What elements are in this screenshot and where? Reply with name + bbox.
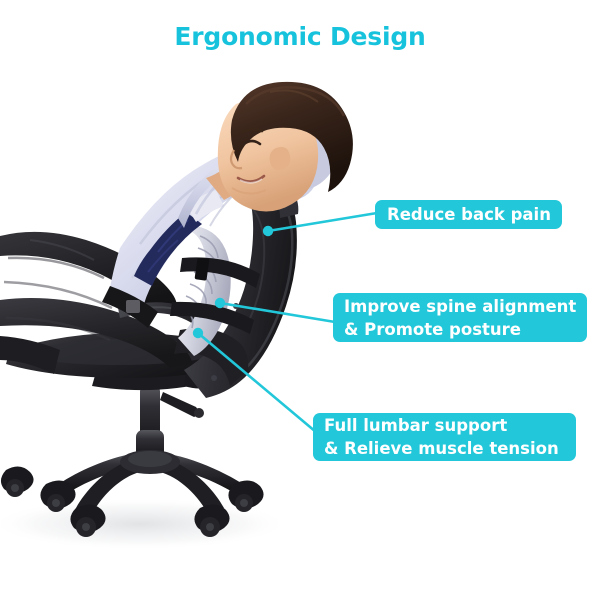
callout-reduce-back-pain[interactable]: Reduce back pain: [375, 200, 562, 229]
callout-full-lumbar-support[interactable]: Full lumbar support & Relieve muscle ten…: [313, 413, 576, 461]
callout-line: & Relieve muscle tension: [324, 437, 565, 460]
callout-line: Improve spine alignment: [344, 295, 576, 318]
head: [206, 82, 353, 212]
callout-line: Reduce back pain: [387, 200, 550, 229]
callout-improve-spine-alignment[interactable]: Improve spine alignment & Promote postur…: [333, 293, 587, 342]
caster: [1, 466, 34, 497]
callout-line: Full lumbar support: [324, 414, 565, 437]
callout-line: & Promote posture: [344, 318, 576, 341]
infographic-canvas: Ergonomic Design Reduce back pain Improv…: [0, 0, 600, 600]
page-title: Ergonomic Design: [0, 22, 600, 51]
